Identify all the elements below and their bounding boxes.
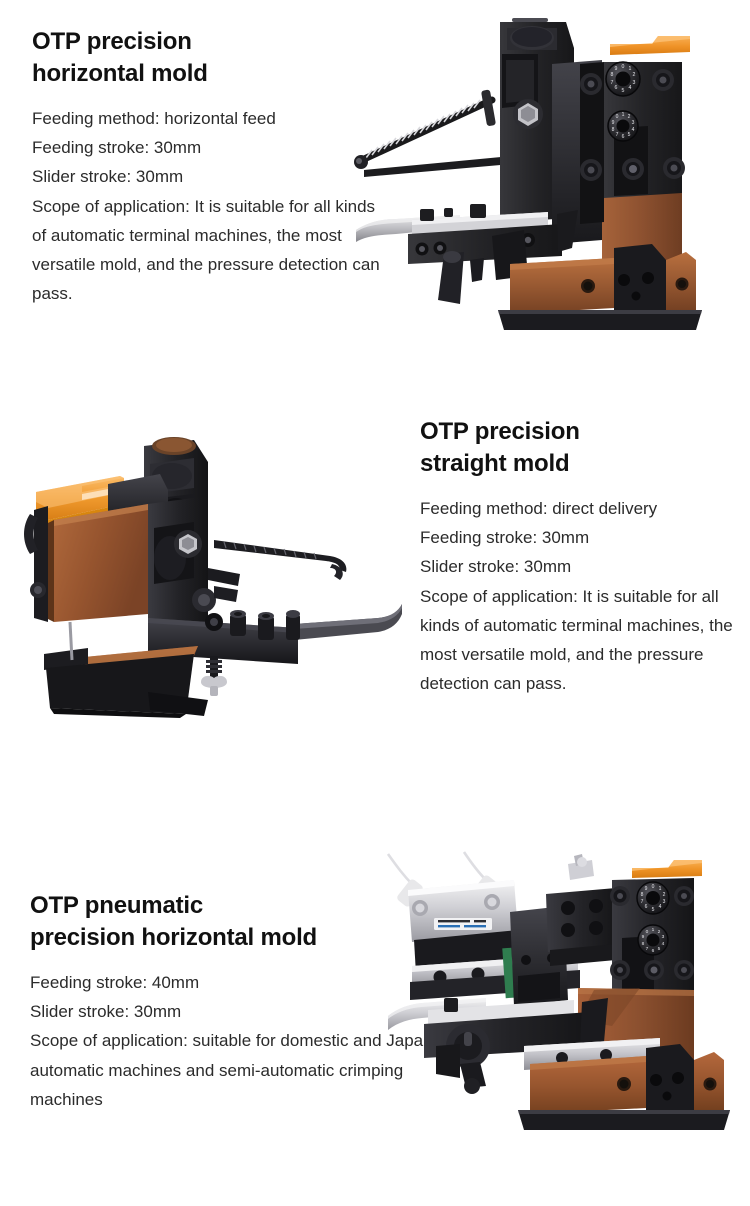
- central-die-holder: [646, 1044, 694, 1110]
- svg-text:6: 6: [615, 85, 618, 91]
- svg-text:8: 8: [641, 892, 644, 898]
- black-base-plate: [518, 1110, 730, 1130]
- svg-text:2: 2: [663, 892, 666, 898]
- svg-text:7: 7: [611, 80, 614, 86]
- svg-text:7: 7: [641, 899, 644, 905]
- svg-text:8: 8: [611, 72, 614, 78]
- product-text-column: OTP precision straight mold Feeding meth…: [420, 416, 736, 698]
- svg-text:3: 3: [633, 80, 636, 86]
- product-title: OTP precision straight mold: [420, 416, 736, 480]
- spec-feeding-stroke: Feeding stroke: 30mm: [420, 523, 736, 552]
- copper-side-block: [46, 504, 148, 622]
- upper-black-block: [546, 888, 618, 966]
- svg-text:8: 8: [612, 127, 615, 133]
- svg-text:2: 2: [628, 114, 631, 120]
- svg-text:1: 1: [652, 927, 655, 933]
- svg-text:3: 3: [632, 120, 635, 126]
- numbered-dial-lower: 123 456 789 0: [608, 111, 638, 141]
- svg-text:5: 5: [658, 946, 661, 952]
- svg-text:2: 2: [658, 929, 661, 935]
- left-knob: [30, 582, 46, 598]
- spec-feeding-method: Feeding method: horizontal feed: [32, 104, 392, 133]
- product-image-straight-mold: [8, 418, 408, 738]
- svg-text:1: 1: [659, 886, 662, 892]
- svg-text:6: 6: [622, 134, 625, 140]
- svg-text:0: 0: [646, 929, 649, 935]
- knob-bracket: [436, 1044, 460, 1078]
- spec-feeding-method: Feeding method: direct delivery: [420, 494, 736, 523]
- spec-slider-stroke: Slider stroke: 30mm: [420, 552, 736, 581]
- product-block-straight-mold: OTP precision straight mold Feeding meth…: [0, 400, 750, 800]
- svg-text:3: 3: [662, 934, 665, 940]
- central-die-holder: [614, 244, 666, 310]
- numbered-dial-upper: 012 345 678 9: [606, 62, 640, 96]
- copper-base-block: [510, 258, 614, 314]
- numbered-dial-upper: 012 345 678 9: [637, 882, 669, 914]
- svg-text:0: 0: [652, 884, 655, 890]
- spec-scope-of-application: Scope of application: It is suitable for…: [420, 582, 736, 699]
- product-image-horizontal-mold: 012 345 678 9 123 456 789 0: [352, 8, 750, 348]
- hex-bolt-center: [174, 530, 202, 558]
- product-block-horizontal-mold: OTP precision horizontal mold Feeding me…: [0, 0, 750, 400]
- left-black-frame: [34, 506, 48, 622]
- air-tube-group: [388, 852, 486, 884]
- cylinder-label: [434, 918, 492, 930]
- svg-text:6: 6: [652, 948, 655, 954]
- black-mounting-plate: [498, 310, 702, 330]
- svg-text:9: 9: [612, 120, 615, 126]
- svg-text:6: 6: [645, 904, 648, 910]
- svg-text:8: 8: [642, 941, 645, 947]
- center-black-column: [148, 496, 208, 636]
- column-knob: [192, 588, 216, 612]
- svg-text:1: 1: [622, 112, 625, 118]
- product-image-pneumatic-horizontal-mold: 012 345 678 9 123 456 789 0: [368, 850, 750, 1150]
- copper-base-block: [530, 1056, 646, 1114]
- numbered-dial-lower: 123 456 789 0: [638, 925, 668, 955]
- orange-top-plate: [632, 860, 702, 878]
- spec-slider-stroke: Slider stroke: 30mm: [32, 162, 392, 191]
- wing-nut-right: [201, 656, 227, 696]
- lever-stub: [208, 568, 240, 586]
- product-title: OTP precision horizontal mold: [32, 26, 392, 90]
- product-text-column: OTP precision horizontal mold Feeding me…: [32, 26, 392, 308]
- svg-text:9: 9: [615, 66, 618, 72]
- hex-bolt-body: [513, 99, 543, 129]
- svg-text:0: 0: [622, 64, 625, 70]
- svg-text:3: 3: [663, 899, 666, 905]
- svg-text:7: 7: [616, 132, 619, 138]
- spec-feeding-stroke: Feeding stroke: 30mm: [32, 133, 392, 162]
- svg-text:4: 4: [662, 941, 665, 947]
- svg-text:4: 4: [629, 85, 632, 91]
- top-clamp: [568, 854, 594, 880]
- product-block-pneumatic-horizontal-mold: OTP pneumatic precision horizontal mold …: [0, 800, 750, 1206]
- svg-text:5: 5: [622, 88, 625, 94]
- svg-text:1: 1: [629, 66, 632, 72]
- svg-text:7: 7: [646, 946, 649, 952]
- svg-text:2: 2: [633, 72, 636, 78]
- svg-text:5: 5: [628, 132, 631, 138]
- svg-text:4: 4: [632, 127, 635, 133]
- coil-spring-arm: [354, 89, 512, 177]
- copper-right-wedge: [666, 252, 696, 310]
- svg-text:9: 9: [642, 934, 645, 940]
- svg-text:5: 5: [652, 907, 655, 913]
- svg-text:9: 9: [645, 886, 648, 892]
- copper-right-wedge: [694, 1052, 724, 1110]
- lower-arm-bar: [364, 156, 512, 177]
- svg-text:0: 0: [616, 114, 619, 120]
- thin-rod: [70, 622, 72, 660]
- orange-top-plate: [610, 36, 690, 55]
- grey-paddle-blade: [294, 604, 402, 640]
- svg-text:4: 4: [659, 904, 662, 910]
- spec-scope-of-application: Scope of application: It is suitable for…: [32, 192, 392, 309]
